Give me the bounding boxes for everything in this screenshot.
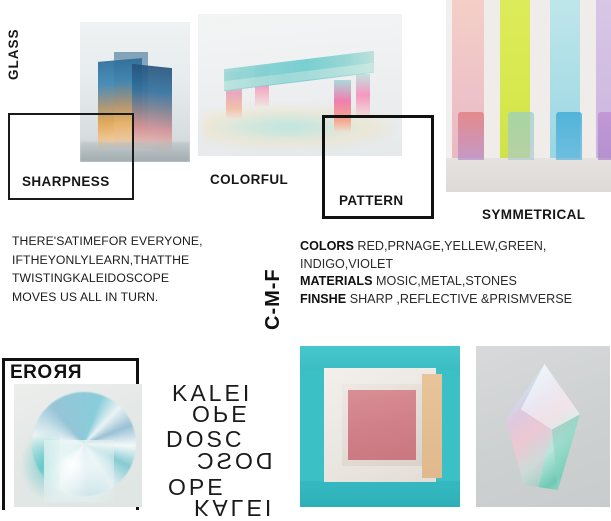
cmf-row: COLORS RED,PRNAGE,YELLEW,GREEN, [300,238,607,256]
kaleido-row: OPE [192,402,250,425]
symmetrical-label: SYMMETRICAL [482,207,585,222]
cmf-key: COLORS [300,239,354,253]
cmf-spec-list: COLORS RED,PRNAGE,YELLEW,GREEN, INDIGO,V… [300,238,607,308]
cmf-row: MATERIALS MOSIC,METAL,STONES [300,273,607,291]
body-copy-line: MOVES US ALL IN TURN. [12,288,262,307]
cmf-row: INDIGO,VIOLET [300,256,607,274]
column-gap [484,0,500,160]
erorr-label-normal: ERO [10,362,53,384]
kaleidoscope-typography: KALEI OPE DOSC DOSC OPE KALEI [166,380,301,507]
room-pink-back-panel [348,390,416,460]
crystal-image [476,346,610,507]
pattern-box: PATTERN [322,115,434,219]
kaleido-row: KALEI [194,496,274,519]
gallery-floor [446,158,611,192]
cmf-row: FINSHE SHARP ,REFLECTIVE &PRISMVERSE [300,291,607,309]
erorr-label-mirrored: RR [53,362,81,384]
cmf-key: MATERIALS [300,274,373,288]
crystal-burst-image [14,384,142,507]
room-floor [300,481,460,507]
cmf-block: C-M-F COLORS RED,PRNAGE,YELLEW,GREEN, IN… [262,238,607,308]
room-ceiling [300,346,460,370]
body-copy-line: THERE'SATIMEFOR EVERYONE, [12,232,262,251]
moodboard-canvas: GLASS SHARPNESS COLORFUL PATTERN SYM [0,0,611,507]
cmf-key: FINSHE [300,292,346,306]
cmf-value: RED,PRNAGE,YELLEW,GREEN, [357,239,546,253]
body-copy-line: IFTHEYONLYLEARN,THATTHE [12,251,262,270]
sharpness-label: SHARPNESS [22,174,110,189]
body-copy: THERE'SATIMEFOR EVERYONE, IFTHEYONLYLEAR… [12,232,262,306]
cmf-value: INDIGO,VIOLET [300,257,393,271]
teal-room-image [300,346,460,507]
sharpness-box: SHARPNESS [8,113,134,200]
glass-pane-right [132,64,172,152]
transparent-chair [508,112,534,160]
table-leg [356,74,370,118]
burst-core-highlight [44,440,114,502]
colorful-label: COLORFUL [210,172,288,187]
pattern-label: PATTERN [339,193,404,208]
room-tan-side-wall [422,374,442,478]
body-copy-line: TWISTINGKALEIDOSCOPE [12,269,262,288]
erorr-label: ERO RR [10,362,81,384]
transparent-chair [556,112,582,160]
column-gap [580,0,596,160]
transparent-chair [598,112,611,160]
symmetrical-chairs-image [446,0,611,192]
cmf-value: MOSIC,METAL,STONES [376,274,517,288]
transparent-chair [458,112,484,160]
kaleido-row: DOSC [194,450,272,473]
glass-caption: GLASS [6,28,21,80]
cmf-rotated-label: C-M-F [262,268,285,330]
cmf-value: SHARP ,REFLECTIVE &PRISMVERSE [350,292,572,306]
